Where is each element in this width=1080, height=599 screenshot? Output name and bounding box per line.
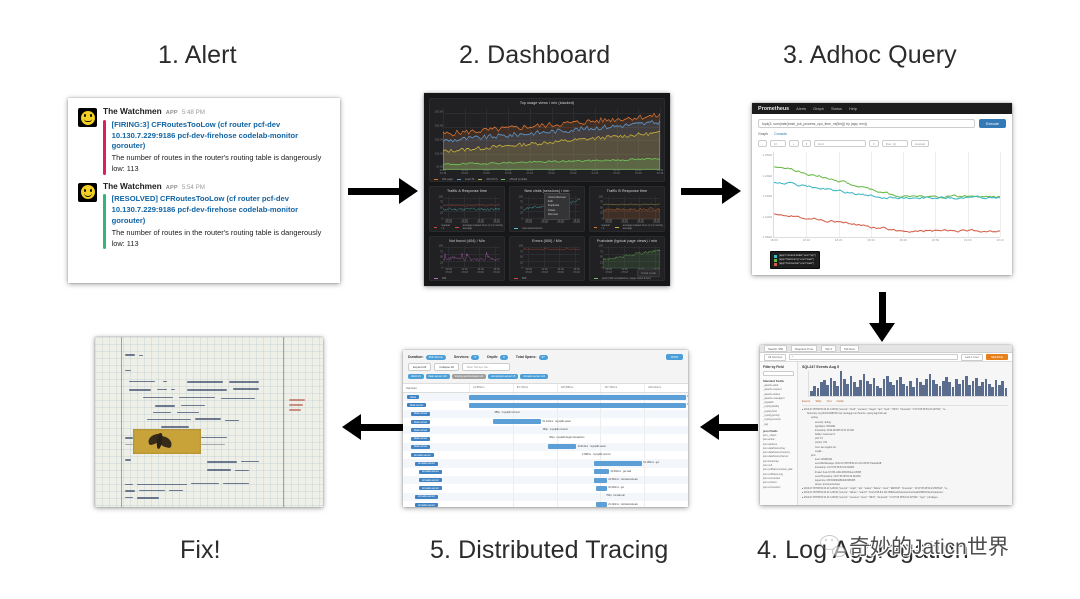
trace-row[interactable]: tornado-server20.600ms : get — [403, 484, 688, 492]
slack-timestamp: 5:54 PM — [182, 185, 205, 192]
histogram-bar[interactable] — [948, 382, 951, 396]
trace-span-bar[interactable] — [469, 395, 686, 400]
x-tick: 18:10 — [803, 238, 811, 242]
histogram-bar[interactable] — [879, 388, 882, 396]
trace-span-bar[interactable] — [493, 419, 541, 424]
handwriting-stroke — [221, 398, 255, 400]
histogram-bar[interactable] — [929, 374, 932, 396]
handwriting-stroke — [199, 444, 225, 446]
histogram-bar[interactable] — [988, 384, 991, 397]
grafana-panel-new-visits[interactable]: New visits (sessions) / min 1007550250 V… — [509, 186, 585, 232]
arrow-alert-to-dashboard — [348, 178, 418, 204]
menu-item-remove[interactable]: Remove — [548, 213, 566, 217]
histogram-bar[interactable] — [925, 379, 928, 396]
trace-waterfall[interactable]: client191.133ms : client.calls.server.vi… — [403, 393, 688, 507]
handwriting-stroke — [187, 389, 227, 391]
histogram-bar[interactable] — [955, 379, 958, 396]
handwriting-stroke — [181, 405, 205, 406]
collapse-all-button[interactable]: Collapse All — [434, 363, 459, 371]
trace-service-name: flask-server — [403, 420, 469, 424]
legend-label: average request time (1 m) moving averag… — [463, 224, 504, 230]
service-chip[interactable]: tornado-server x12 — [520, 374, 548, 379]
handwriting-stroke — [125, 490, 135, 492]
handwriting-stroke — [137, 497, 159, 499]
alert-status-bar-firing — [103, 120, 106, 175]
histogram-bar[interactable] — [843, 379, 846, 396]
nav-graph[interactable]: Graph — [813, 106, 824, 111]
x-tick: 15:0007/18 — [570, 170, 577, 176]
handwriting-stroke — [129, 389, 151, 391]
workflow-diagram: 1. Alert 2. Dashboard 3. Adhoc Query 4. … — [0, 0, 1080, 599]
query-input[interactable]: topk(3, sum(rate(bosh_job_process_cpu_ti… — [758, 119, 975, 128]
trace-span-bar[interactable] — [594, 478, 607, 483]
trace-span-label: 385µ : mysqldb.connect — [494, 411, 519, 414]
step-caption-dashboard: 2. Dashboard — [459, 41, 610, 70]
range-plus-button[interactable]: + — [789, 140, 799, 147]
stat-total-spans: Total Spans:37 — [516, 355, 548, 360]
screenshot-grafana-dashboard[interactable]: Top usage views / min (stacked) 250.0020… — [424, 93, 670, 286]
col-t4: 167.450ms — [600, 384, 644, 392]
trace-service-name: flask-server — [403, 445, 469, 449]
margin-line — [121, 337, 122, 507]
events-histogram[interactable] — [808, 371, 1008, 397]
tab-requires-time[interactable]: Requires Time — [791, 345, 817, 352]
handwriting-stroke — [207, 469, 231, 470]
handwriting-stroke — [169, 490, 183, 491]
handwriting-stroke — [187, 381, 223, 383]
trace-row[interactable]: tornado-server799µ : tornado.all — [403, 493, 688, 501]
panel-title: Errors (500) / Min — [510, 237, 584, 243]
service-chip[interactable]: tracing-service-layers x2 — [452, 374, 486, 379]
histogram-bar[interactable] — [899, 377, 902, 396]
y-axis: 1007550250 — [591, 195, 603, 220]
trace-row[interactable]: flask-server190.327ms : get — [403, 401, 688, 409]
legend[interactable]: 304 pageLoad JS404 (PCI)offload (mobile) — [434, 178, 527, 181]
stacked-toggle[interactable]: stacked — [911, 140, 929, 147]
x-tick: 19:10 — [996, 238, 1004, 242]
handwriting-stroke — [125, 444, 133, 446]
grafana-panel-traffic-a[interactable]: Traffic A Response time 1007550250 09:00… — [429, 186, 505, 232]
y-axis: 250.00200.00150.00100.0050.00 — [431, 107, 443, 170]
slack-username: The Watchmen — [103, 182, 162, 191]
histogram-bar[interactable] — [985, 379, 988, 396]
x-tick: 18:50 — [932, 238, 940, 242]
x-tick: 11:0007/18 — [483, 170, 490, 176]
trace-row[interactable]: flask-server40.913ms : mysqldb.select — [403, 443, 688, 451]
histogram-bar[interactable] — [902, 384, 905, 397]
stat-duration: Duration:669.312ms — [408, 355, 446, 360]
expand-all-button[interactable]: Expand All — [408, 363, 431, 371]
toolbar-fields[interactable]: Fields — [837, 400, 844, 403]
shift-left-button[interactable]: ⏴ — [802, 140, 812, 147]
search-query-input[interactable]: * — [789, 354, 958, 361]
histogram-bar[interactable] — [958, 384, 961, 397]
trace-track: 381µ : mysqldb.begin.transaction — [469, 434, 688, 442]
trace-service-name: flask-server — [403, 428, 469, 432]
y-axis: 1007550250 — [431, 195, 443, 220]
alert-text: The number of routes in the router's rou… — [112, 153, 332, 174]
histogram-bar[interactable] — [995, 380, 998, 396]
tab-3[interactable]: Tab 3 — [821, 345, 836, 352]
slack-message: The Watchmen APP 5:48 PM [FIRING:3] CFRo… — [78, 107, 332, 175]
handwriting-stroke — [235, 470, 249, 472]
margin-line-right — [283, 337, 284, 507]
service-chip-list[interactable]: client x4flask-server x10tracing-service… — [408, 374, 683, 379]
trace-row[interactable]: flask-server385µ : mysqldb.connect — [403, 410, 688, 418]
trace-span-label: 381µ : mysqldb.begin.transaction — [549, 436, 584, 439]
histogram-bar[interactable] — [945, 377, 948, 396]
screenshot-slack-alert[interactable]: The Watchmen APP 5:48 PM [FIRING:3] CFRo… — [68, 98, 340, 283]
alert-title[interactable]: [FIRING:3] CFRoutesTooLow (cf router pcf… — [112, 120, 332, 152]
screenshot-zipkin-trace[interactable]: Duration:669.312ms Services:5 Depth:6 To… — [403, 350, 688, 507]
grafana-panel-errors[interactable]: Errors (500) / Min 1007550250 09:0007/18… — [509, 236, 585, 282]
panel-title: Pushdate (typical page views) / min — [590, 237, 664, 243]
sidebar-title: Filter by Field — [763, 365, 794, 369]
screenshot-kibana-logs[interactable]: Search: 956 Requires Time Tab 3 Tab New … — [760, 345, 1012, 505]
trace-track: 385µ : mysqldb.connect — [469, 410, 688, 418]
trace-track: 20.600ms : get — [469, 484, 688, 492]
histogram-bar[interactable] — [813, 386, 816, 396]
alert-title[interactable]: [RESOLVED] CFRoutesTooLow (cf router pcf… — [112, 194, 332, 226]
y-axis: 1007550250 — [511, 245, 523, 270]
shift-right-button[interactable]: ⏵ — [869, 140, 879, 147]
step-caption-tracing: 5. Distributed Tracing — [430, 536, 668, 565]
red-annotation-stroke — [289, 399, 305, 401]
histogram-bar[interactable] — [830, 378, 833, 396]
step-caption-adhoc: 3. Adhoc Query — [783, 41, 957, 70]
nav-status[interactable]: Status — [831, 106, 842, 111]
step-caption-logs: 4. Log Aggregation — [757, 536, 969, 565]
grafana-panel-pageviews[interactable]: Pushdate (typical page views) / min 1007… — [589, 236, 665, 282]
x-tick: 18:0007/18 — [635, 170, 642, 176]
histogram-bar[interactable] — [942, 381, 945, 396]
histogram-bar[interactable] — [820, 382, 823, 396]
trace-span-bar[interactable] — [594, 461, 642, 466]
service-filter-select[interactable]: Filter Service Na... — [462, 363, 510, 371]
histogram-bar[interactable] — [846, 384, 849, 397]
histogram-bar[interactable] — [991, 387, 994, 396]
histogram-bar[interactable] — [952, 387, 955, 396]
service-chip[interactable]: component-server x5 — [488, 374, 518, 379]
trace-row[interactable]: tornado-server22.120ms : call.downstream — [403, 501, 688, 507]
handwriting-stroke — [171, 389, 175, 390]
trace-column-headers: Services 41.883ms 83.725ms 125.588ms 167… — [403, 384, 688, 393]
trace-span-label: 396µ : mysqldb.connect — [543, 428, 568, 431]
handwriting-stroke — [207, 461, 237, 463]
sidebar-field[interactable]: json.cellName.bucket_add — [763, 468, 794, 472]
graph-paper-grid — [95, 337, 323, 507]
legend-label: offload (mobile) — [509, 178, 527, 181]
resolution-input[interactable]: Res. (s) — [882, 140, 908, 147]
toolbar-table[interactable]: Table — [815, 400, 821, 403]
x-tick: 09:0007/18 — [445, 269, 452, 275]
panel-title: Traffic A Response time — [430, 187, 504, 193]
x-axis: 09:0007/1810:0007/1811:0007/1812:0007/18… — [443, 170, 660, 177]
slack-app-tag: APP — [166, 185, 178, 191]
histogram-bar[interactable] — [840, 371, 843, 396]
handwriting-stroke — [225, 420, 239, 421]
y-axis: 1007550250 — [591, 245, 603, 270]
legend-label: request / s — [441, 224, 451, 230]
trace-row[interactable]: tornado-server2.388ms : mysqldb.commit — [403, 451, 688, 459]
histogram-bar[interactable] — [968, 385, 971, 396]
histogram-bar[interactable] — [896, 380, 899, 396]
alert-status-bar-resolved — [103, 194, 106, 249]
x-tick: 09:0007/18 — [440, 170, 447, 176]
handwriting-stroke — [233, 388, 259, 389]
histogram-bar[interactable] — [833, 381, 836, 396]
trace-span-bar[interactable] — [594, 469, 609, 474]
y-tick: 1.15E8 — [762, 194, 772, 198]
histogram-bar[interactable] — [978, 386, 981, 396]
kiosk-mode-button[interactable]: Kiosk mode — [637, 269, 660, 277]
grafana-panel-not-found[interactable]: Not found (404) / Min 1007550250 09:0007… — [429, 236, 505, 282]
legend[interactable]: 404 — [434, 277, 446, 280]
handwriting-stroke — [137, 484, 187, 485]
toolbar-sort[interactable]: Sort — [827, 400, 832, 403]
trace-span-label: 191.133ms : client.calls.server.via.get — [687, 395, 688, 398]
histogram-bar[interactable] — [873, 378, 876, 396]
x-tick: 09:0007/18 — [605, 269, 612, 275]
slack-timestamp: 5:48 PM — [182, 110, 205, 117]
y-tick: 1.25E8 — [762, 153, 772, 157]
trace-track: 40.913ms : mysqldb.select — [469, 443, 688, 451]
histogram-bar[interactable] — [909, 381, 912, 396]
trace-track: 190.327ms : get — [469, 401, 688, 409]
x-tick: 11:0007/18 — [541, 220, 548, 226]
tab-search[interactable]: Search: 956 — [764, 345, 787, 352]
alert-text: The number of routes in the router's rou… — [112, 228, 332, 249]
prometheus-navbar: Prometheus Alerts Graph Status Help — [752, 103, 1012, 114]
legend-label: Load JS — [465, 178, 475, 181]
histogram-bar[interactable] — [998, 385, 1001, 396]
x-tick: 13:0007/18 — [557, 220, 564, 226]
graph-controls[interactable]: - 1h + ⏴ End ⏵ Res. (s) stacked — [758, 140, 1006, 147]
histogram-bar[interactable] — [853, 382, 856, 396]
trace-span-bar[interactable] — [596, 502, 607, 507]
x-tick: 15:0007/18 — [573, 269, 580, 275]
trace-span-label: 2.388ms : mysqldb.commit — [582, 453, 610, 456]
tab-console[interactable]: Console — [774, 132, 787, 136]
arrow-logs-to-tracing — [700, 414, 758, 440]
trace-track: 799µ : tornado.all — [469, 493, 688, 501]
histogram-bar[interactable] — [889, 382, 892, 396]
x-tick: 12:0007/18 — [505, 170, 512, 176]
trace-span-bar[interactable] — [596, 486, 607, 491]
badge-duration: 669.312ms — [426, 355, 446, 360]
trace-service-name: tornado-server — [403, 486, 469, 490]
arrow-dashboard-to-adhoc — [681, 178, 741, 204]
service-chip[interactable]: client x4 — [408, 374, 424, 379]
chart-legend[interactable]: {app="content-butler",env="sjc"} {app="f… — [770, 251, 820, 269]
histogram-bar[interactable] — [912, 387, 915, 396]
col-t2: 83.725ms — [513, 384, 557, 392]
x-tick: 17:0007/18 — [613, 170, 620, 176]
histogram-bar[interactable] — [922, 385, 925, 396]
trace-span-label: 20.600ms : get — [608, 486, 624, 489]
badge-services: 5 — [471, 355, 479, 360]
histogram-bar[interactable] — [919, 382, 922, 396]
histogram-bar[interactable] — [1001, 381, 1004, 396]
kibana-tabbar[interactable]: Search: 956 Requires Time Tab 3 Tab New — [760, 345, 1012, 353]
col-services: Services — [403, 384, 469, 392]
legend-entry: {app="bonzai-bar",env="east"} — [774, 262, 816, 266]
x-tick: 09:0007/18 — [525, 269, 532, 275]
x-tick: 09:0007/18 — [525, 220, 532, 226]
histogram-bar[interactable] — [810, 391, 813, 396]
range-minus-button[interactable]: - — [758, 140, 767, 147]
avatar — [78, 183, 97, 202]
trace-row[interactable]: flask-server396µ : mysqldb.connect — [403, 426, 688, 434]
histogram-bar[interactable] — [916, 378, 919, 396]
trace-track: 22.120ms : call.downstream — [469, 501, 688, 507]
histogram-bar[interactable] — [1005, 388, 1008, 396]
trace-service-name: client — [403, 395, 469, 399]
x-tick: 13:0007/18 — [477, 269, 484, 275]
histogram-bar[interactable] — [975, 378, 978, 396]
handwriting-stroke — [161, 426, 189, 428]
trace-track: 32.600ms : get.wait — [469, 468, 688, 476]
prometheus-chart: 1.25E81.20E81.15E81.10E81.05E818:0018:10… — [773, 152, 1000, 238]
arrow-tracing-to-fix — [342, 414, 405, 440]
legend[interactable]: new sessions/min — [514, 227, 542, 230]
histogram-bar[interactable] — [823, 380, 826, 396]
range-value[interactable]: 1h — [770, 140, 786, 147]
histogram-bar[interactable] — [932, 380, 935, 396]
histogram-bar[interactable] — [856, 387, 859, 396]
histogram-bar[interactable] — [826, 385, 829, 396]
handwriting-stroke — [125, 459, 131, 461]
screenshot-prometheus-query[interactable]: Prometheus Alerts Graph Status Help topk… — [752, 103, 1012, 275]
nav-alerts[interactable]: Alerts — [796, 106, 806, 111]
x-tick: 15:0007/18 — [573, 220, 580, 226]
service-chip[interactable]: flask-server x10 — [426, 374, 450, 379]
histogram-bar[interactable] — [886, 376, 889, 396]
trace-row[interactable]: flask-server61.122ms : mysqldb.select — [403, 418, 688, 426]
trace-service-name: tornado-server — [403, 470, 469, 474]
trace-span-label: 190.327ms : get — [687, 403, 688, 406]
histogram-bar[interactable] — [892, 385, 895, 396]
histogram-bar[interactable] — [965, 376, 968, 396]
y-tick: 200.00 — [435, 124, 443, 127]
red-annotation-stroke — [289, 409, 301, 411]
plot-area — [443, 108, 660, 170]
trace-service-name: tornado-server — [403, 503, 469, 507]
histogram-bar[interactable] — [876, 386, 879, 396]
x-tick: 16:0007/18 — [592, 170, 599, 176]
y-tick: 100.00 — [435, 152, 443, 155]
download-json-button[interactable]: JSON — [666, 354, 683, 360]
search-button[interactable]: SEARCH — [986, 354, 1008, 360]
trace-row[interactable]: client191.133ms : client.calls.server.vi… — [403, 393, 688, 401]
panel-context-menu[interactable]: View fullscreen Edit Duplicate Share Rem… — [544, 193, 570, 220]
sidebar-field[interactable]: _tag — [763, 423, 794, 427]
x-axis: 09:0007/1811:0007/1813:0007/1815:0007/18 — [443, 269, 500, 276]
handwriting-stroke — [155, 405, 175, 407]
log-entries-list[interactable]: ▸ 2013-07-05T08:54:23.417+08:00 {"source… — [802, 408, 1008, 500]
execute-button[interactable]: Execute — [979, 119, 1006, 128]
histogram-bar[interactable] — [906, 386, 909, 396]
toolbar-events[interactable]: Events — [802, 400, 810, 403]
legend-label: new sessions/min — [522, 227, 542, 230]
stat-depth: Depth:6 — [487, 355, 508, 360]
step-caption-alert: 1. Alert — [158, 41, 237, 70]
trace-row[interactable]: flask-server381µ : mysqldb.begin.transac… — [403, 434, 688, 442]
prometheus-logo[interactable]: Prometheus — [758, 106, 789, 112]
legend[interactable]: request / s average request time (1 m) m… — [594, 224, 664, 230]
trace-span-label: 22.120ms : call.downstream — [608, 503, 638, 506]
x-tick: 18:30 — [867, 238, 875, 242]
trace-row[interactable]: tornado-server61.180ms : get — [403, 459, 688, 467]
screenshot-bug-logbook — [95, 337, 323, 507]
end-time-input[interactable]: End — [814, 140, 866, 147]
grafana-panel-top[interactable]: Top usage views / min (stacked) 250.0020… — [429, 98, 665, 182]
slack-username: The Watchmen — [103, 107, 162, 116]
trace-span-label: 799µ : tornado.all — [606, 494, 625, 497]
histogram-bar[interactable] — [850, 376, 853, 396]
sidebar-field[interactable]: json.connection — [763, 486, 794, 490]
grafana-row-middle: Traffic A Response time 1007550250 09:00… — [429, 186, 665, 232]
histogram-bar[interactable] — [836, 386, 839, 396]
kibana-searchbar[interactable]: All Sources * Last 1 hour SEARCH — [760, 353, 1012, 362]
histogram-bar[interactable] — [869, 384, 872, 397]
histogram-bar[interactable] — [972, 381, 975, 396]
trace-service-name: tornado-server — [403, 453, 469, 457]
histogram-bar[interactable] — [859, 380, 862, 396]
histogram-bar[interactable] — [866, 381, 869, 396]
field-sidebar[interactable]: Filter by Field Standard Fields _apache.… — [760, 362, 798, 505]
panel-title: Traffic B Response time — [590, 187, 664, 193]
trace-span-bar[interactable] — [469, 403, 686, 408]
histogram-bar[interactable] — [981, 382, 984, 396]
histogram-bar[interactable] — [939, 386, 942, 396]
histogram-bar[interactable] — [883, 379, 886, 396]
results-toolbar[interactable]: Events Table Sort Fields — [802, 400, 1008, 406]
histogram-bar[interactable] — [817, 388, 820, 396]
trace-row[interactable]: tornado-server32.600ms : get.wait — [403, 468, 688, 476]
histogram-bar[interactable] — [863, 374, 866, 396]
trace-track: 61.122ms : mysqldb.select — [469, 418, 688, 426]
handwriting-stroke — [125, 484, 133, 486]
tab-new[interactable]: Tab New — [840, 345, 859, 352]
x-tick: 18:20 — [835, 238, 843, 242]
legend[interactable]: 500 — [514, 277, 526, 280]
trace-span-label: 22.546ms : call.downstream — [608, 478, 638, 481]
trace-track: 396µ : mysqldb.connect — [469, 426, 688, 434]
grafana-row-bottom: Not found (404) / Min 1007550250 09:0007… — [429, 236, 665, 282]
y-axis: 1007550250 — [431, 245, 443, 270]
legend-label: {app="bonzai-bar",env="east"} — [779, 262, 814, 266]
legend[interactable]: request / s average request time (1 m) m… — [434, 224, 504, 230]
histogram-bar[interactable] — [935, 384, 938, 397]
x-tick: 10:0007/18 — [461, 170, 468, 176]
trace-service-name: tornado-server — [403, 478, 469, 482]
trace-row[interactable]: tornado-server22.546ms : call.downstream — [403, 476, 688, 484]
badge-depth: 6 — [500, 355, 508, 360]
legend-label: 404 — [442, 277, 446, 280]
nav-help[interactable]: Help — [849, 106, 857, 111]
x-tick: 19:0007/18 — [657, 170, 664, 176]
histogram-bar[interactable] — [962, 380, 965, 396]
tab-graph[interactable]: Graph — [758, 132, 768, 136]
grafana-panel-traffic-b[interactable]: Traffic B Response time 1007550250 09:00… — [589, 186, 665, 232]
trace-span-bar[interactable] — [548, 444, 576, 449]
handwriting-stroke — [125, 370, 131, 371]
field-search-input[interactable] — [763, 371, 794, 376]
log-entry[interactable]: ▸ 2013-07-05T08:54:23.417+08:00 {"source… — [802, 496, 1008, 500]
time-range-picker[interactable]: Last 1 hour — [961, 354, 983, 361]
source-selector[interactable]: All Sources — [764, 354, 786, 361]
